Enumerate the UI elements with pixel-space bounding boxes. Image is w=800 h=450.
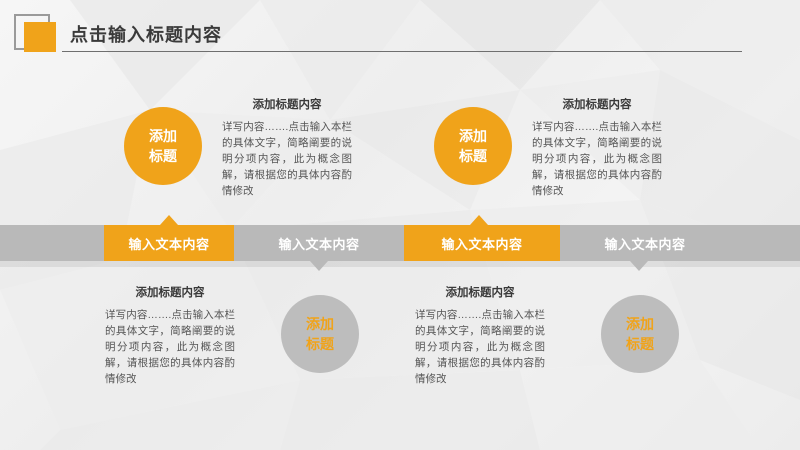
- timeline-segment-2[interactable]: 输入文本内容: [254, 225, 384, 261]
- text-block-1-body: 详写内容…….点击输入本栏的具体文字，简略阐要的说明分项内容，此为概念图解，请根…: [222, 119, 352, 199]
- text-block-2-body: 详写内容…….点击输入本栏的具体文字，简略阐要的说明分项内容，此为概念图解，请根…: [532, 119, 662, 199]
- connector-arrow-up-2: [470, 215, 488, 225]
- circle-node-1-line1: 添加: [149, 126, 177, 146]
- text-block-3-body: 详写内容…….点击输入本栏的具体文字，简略阐要的说明分项内容，此为概念图解，请根…: [105, 307, 235, 387]
- text-block-4-title: 添加标题内容: [415, 284, 545, 300]
- text-block-4: 添加标题内容 详写内容…….点击输入本栏的具体文字，简略阐要的说明分项内容，此为…: [415, 284, 545, 387]
- text-block-2: 添加标题内容 详写内容…….点击输入本栏的具体文字，简略阐要的说明分项内容，此为…: [532, 96, 662, 199]
- timeline-segment-3[interactable]: 输入文本内容: [404, 225, 560, 261]
- connector-arrow-up-1: [160, 215, 178, 225]
- circle-node-3-line1: 添加: [306, 314, 334, 334]
- circle-node-2[interactable]: 添加 标题: [434, 107, 512, 185]
- text-block-1: 添加标题内容 详写内容…….点击输入本栏的具体文字，简略阐要的说明分项内容，此为…: [222, 96, 352, 199]
- circle-node-2-line1: 添加: [459, 126, 487, 146]
- timeline-segment-1[interactable]: 输入文本内容: [104, 225, 234, 261]
- text-block-1-title: 添加标题内容: [222, 96, 352, 112]
- timeline-bar-shadow: [0, 261, 800, 267]
- text-block-3: 添加标题内容 详写内容…….点击输入本栏的具体文字，简略阐要的说明分项内容，此为…: [105, 284, 235, 387]
- header-decoration-block: [24, 22, 56, 52]
- text-block-3-title: 添加标题内容: [105, 284, 235, 300]
- header-divider: [62, 51, 742, 52]
- timeline-segment-3-label: 输入文本内容: [441, 234, 522, 253]
- circle-node-1-line2: 标题: [149, 146, 177, 166]
- circle-node-4-line1: 添加: [626, 314, 654, 334]
- circle-node-1[interactable]: 添加 标题: [124, 107, 202, 185]
- connector-arrow-down-2: [630, 261, 648, 271]
- timeline-segment-1-label: 输入文本内容: [128, 234, 209, 253]
- connector-arrow-down-1: [310, 261, 328, 271]
- circle-node-4-line2: 标题: [626, 334, 654, 354]
- timeline-segment-4-label: 输入文本内容: [604, 234, 685, 253]
- circle-node-4[interactable]: 添加 标题: [601, 295, 679, 373]
- circle-node-2-line2: 标题: [459, 146, 487, 166]
- slide-canvas: 点击输入标题内容 输入文本内容 输入文本内容 输入文本内容 输入文本内容 添加 …: [0, 0, 800, 450]
- circle-node-3-line2: 标题: [306, 334, 334, 354]
- text-block-2-title: 添加标题内容: [532, 96, 662, 112]
- page-title: 点击输入标题内容: [70, 21, 222, 47]
- timeline-segment-4[interactable]: 输入文本内容: [580, 225, 710, 261]
- timeline-segment-2-label: 输入文本内容: [278, 234, 359, 253]
- circle-node-3[interactable]: 添加 标题: [281, 295, 359, 373]
- text-block-4-body: 详写内容…….点击输入本栏的具体文字，简略阐要的说明分项内容，此为概念图解，请根…: [415, 307, 545, 387]
